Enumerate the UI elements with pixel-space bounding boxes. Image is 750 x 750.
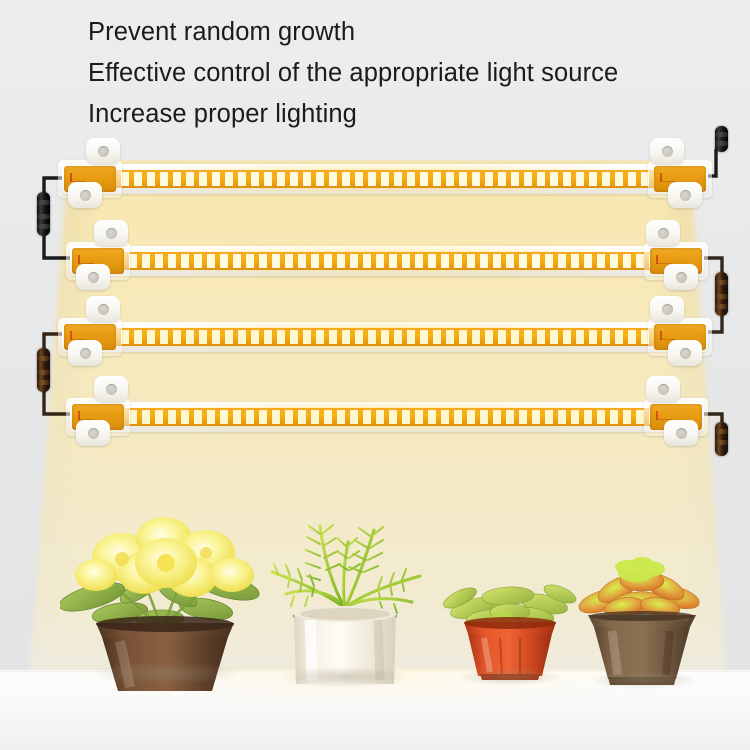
led-strip bbox=[116, 252, 658, 270]
led-bar-2 bbox=[70, 234, 704, 288]
led-strip bbox=[108, 328, 662, 346]
led-bar-3 bbox=[62, 310, 708, 364]
mount-tab-bottom-right bbox=[668, 340, 702, 366]
led-chips bbox=[108, 172, 662, 186]
mount-tab-bottom-left bbox=[68, 340, 102, 366]
mount-tab-bottom-left bbox=[76, 264, 110, 290]
mount-tab-bottom-left bbox=[76, 420, 110, 446]
plant-succulent bbox=[572, 545, 712, 695]
product-image: Prevent random growth Effective control … bbox=[0, 0, 750, 750]
led-strip bbox=[108, 170, 662, 188]
headline-line-2: Effective control of the appropriate lig… bbox=[88, 53, 738, 94]
mount-tab-top-right bbox=[650, 138, 684, 164]
plant-small-leafy bbox=[440, 560, 580, 690]
led-bar-4 bbox=[70, 390, 704, 444]
plant-fern bbox=[250, 490, 440, 690]
led-strip bbox=[116, 408, 658, 426]
plant-shadow bbox=[280, 666, 410, 688]
plant-yellow-flowers bbox=[60, 495, 270, 695]
headline-line-1: Prevent random growth bbox=[88, 12, 738, 53]
mount-tab-top-right bbox=[646, 376, 680, 402]
led-chips bbox=[116, 410, 658, 424]
mount-tab-top-left bbox=[94, 376, 128, 402]
mount-tab-top-right bbox=[646, 220, 680, 246]
plant-shadow bbox=[92, 661, 242, 685]
mount-tab-top-left bbox=[94, 220, 128, 246]
mount-tab-top-left bbox=[86, 296, 120, 322]
mount-tab-bottom-right bbox=[664, 264, 698, 290]
mount-tab-bottom-right bbox=[664, 420, 698, 446]
plant-shadow bbox=[458, 668, 562, 686]
mount-tab-bottom-right bbox=[668, 182, 702, 208]
led-chips bbox=[116, 254, 658, 268]
mount-tab-top-right bbox=[650, 296, 684, 322]
headline-block: Prevent random growth Effective control … bbox=[88, 12, 738, 135]
mount-tab-bottom-left bbox=[68, 182, 102, 208]
mount-tab-top-left bbox=[86, 138, 120, 164]
led-chips bbox=[108, 330, 662, 344]
led-bar-1 bbox=[62, 152, 708, 206]
headline-line-3: Increase proper lighting bbox=[88, 94, 738, 135]
plant-shadow bbox=[590, 671, 698, 689]
